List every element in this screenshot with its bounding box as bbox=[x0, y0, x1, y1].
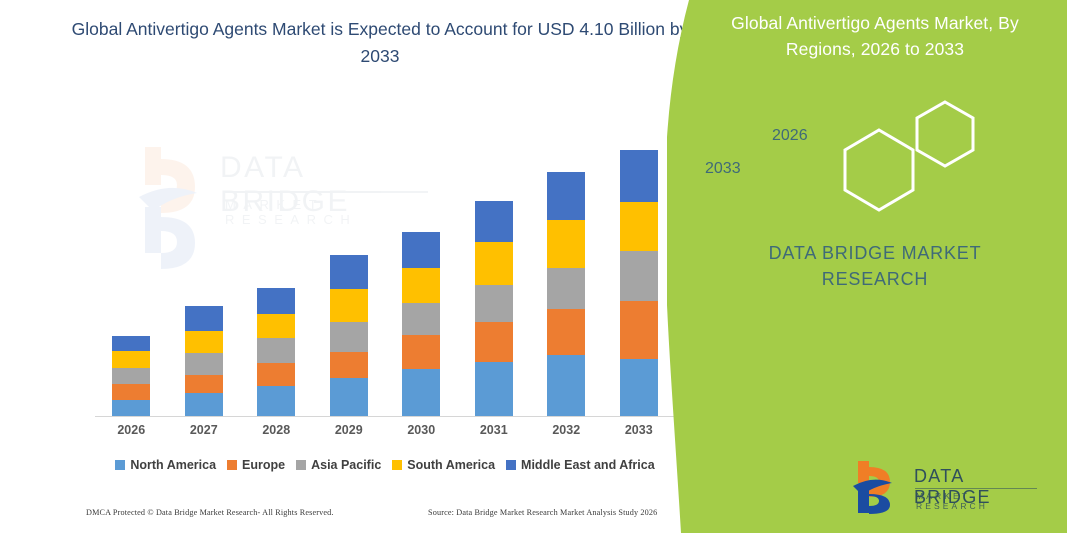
bar-segment[interactable] bbox=[330, 378, 368, 417]
footer-copyright: DMCA Protected © Data Bridge Market Rese… bbox=[86, 508, 334, 517]
bar-segment[interactable] bbox=[257, 386, 295, 417]
bar-segment[interactable] bbox=[620, 359, 658, 417]
x-label-2026: 2026 bbox=[95, 423, 168, 437]
bar-group-2033[interactable] bbox=[603, 150, 676, 417]
stacked-bar[interactable] bbox=[475, 201, 513, 417]
bar-segment[interactable] bbox=[257, 363, 295, 386]
bar-chart-plot-area bbox=[95, 140, 675, 417]
bar-segment[interactable] bbox=[547, 268, 585, 308]
bar-segment[interactable] bbox=[475, 242, 513, 285]
panel-title: Global Antivertigo Agents Market, By Reg… bbox=[715, 10, 1035, 63]
bar-segment[interactable] bbox=[475, 285, 513, 323]
bar-segment[interactable] bbox=[620, 202, 658, 251]
stacked-bar[interactable] bbox=[257, 288, 295, 417]
bar-group-2028[interactable] bbox=[240, 288, 313, 417]
hex-label-2026: 2026 bbox=[772, 127, 808, 145]
logo-divider bbox=[915, 488, 1037, 489]
bar-group-2030[interactable] bbox=[385, 232, 458, 417]
x-label-2031: 2031 bbox=[458, 423, 531, 437]
bar-segment[interactable] bbox=[620, 150, 658, 202]
legend-label: North America bbox=[130, 458, 216, 472]
bar-segment[interactable] bbox=[330, 322, 368, 352]
bar-segment[interactable] bbox=[475, 322, 513, 362]
legend-item[interactable]: Europe bbox=[227, 458, 285, 472]
hexagon-shapes-icon bbox=[797, 92, 997, 222]
stacked-bar[interactable] bbox=[547, 172, 585, 417]
dbmr-logo: DATA BRIDGE MARKET RESEARCH bbox=[852, 460, 1042, 518]
legend-label: South America bbox=[407, 458, 495, 472]
bar-segment[interactable] bbox=[112, 400, 150, 417]
bar-segment[interactable] bbox=[112, 368, 150, 384]
bar-segment[interactable] bbox=[257, 314, 295, 339]
bar-group-2032[interactable] bbox=[530, 172, 603, 417]
stacked-bar[interactable] bbox=[330, 255, 368, 417]
stacked-bar[interactable] bbox=[112, 336, 150, 417]
legend-label: Asia Pacific bbox=[311, 458, 381, 472]
stacked-bar[interactable] bbox=[402, 232, 440, 417]
bar-segment[interactable] bbox=[112, 336, 150, 352]
legend-item[interactable]: Asia Pacific bbox=[296, 458, 381, 472]
bar-segment[interactable] bbox=[547, 172, 585, 220]
bar-segment[interactable] bbox=[185, 393, 223, 417]
legend-label: Europe bbox=[242, 458, 285, 472]
logo-subtext: MARKET RESEARCH bbox=[916, 491, 1042, 511]
legend-label: Middle East and Africa bbox=[521, 458, 655, 472]
bar-segment[interactable] bbox=[475, 201, 513, 242]
chart-title: Global Antivertigo Agents Market is Expe… bbox=[70, 16, 690, 70]
legend-swatch-icon bbox=[115, 460, 125, 470]
legend-item[interactable]: South America bbox=[392, 458, 495, 472]
legend-item[interactable]: North America bbox=[115, 458, 216, 472]
bar-segment[interactable] bbox=[330, 255, 368, 289]
hex-label-2033: 2033 bbox=[705, 160, 741, 178]
legend-swatch-icon bbox=[227, 460, 237, 470]
x-label-2029: 2029 bbox=[313, 423, 386, 437]
bar-segment[interactable] bbox=[330, 352, 368, 378]
x-label-2027: 2027 bbox=[168, 423, 241, 437]
bar-segment[interactable] bbox=[547, 355, 585, 417]
panel-brand-line-1: DATA BRIDGE MARKET bbox=[769, 243, 982, 263]
legend-item[interactable]: Middle East and Africa bbox=[506, 458, 655, 472]
x-label-2033: 2033 bbox=[603, 423, 676, 437]
x-axis-line bbox=[95, 416, 675, 417]
right-green-panel: Global Antivertigo Agents Market, By Reg… bbox=[667, 0, 1067, 533]
bar-segment[interactable] bbox=[112, 384, 150, 400]
chart-legend: North AmericaEuropeAsia PacificSouth Ame… bbox=[95, 455, 675, 475]
bar-segment[interactable] bbox=[112, 351, 150, 367]
dbmr-logo-mark-icon bbox=[852, 460, 910, 514]
bar-segment[interactable] bbox=[547, 220, 585, 268]
bar-segment[interactable] bbox=[257, 338, 295, 363]
bar-group-2029[interactable] bbox=[313, 255, 386, 417]
bar-segment[interactable] bbox=[620, 301, 658, 358]
bar-segment[interactable] bbox=[185, 331, 223, 354]
stacked-bar[interactable] bbox=[185, 306, 223, 417]
panel-brand-line-2: RESEARCH bbox=[822, 269, 928, 289]
legend-swatch-icon bbox=[506, 460, 516, 470]
x-label-2032: 2032 bbox=[530, 423, 603, 437]
bar-segment[interactable] bbox=[402, 369, 440, 417]
bar-segment[interactable] bbox=[257, 288, 295, 314]
bar-segment[interactable] bbox=[402, 268, 440, 303]
infographic-canvas: DATA BRIDGE MARKET RESEARCH Global Antiv… bbox=[0, 0, 1067, 533]
bar-segment[interactable] bbox=[620, 251, 658, 301]
bar-segment[interactable] bbox=[402, 303, 440, 335]
bar-segment[interactable] bbox=[185, 306, 223, 331]
bar-segment[interactable] bbox=[475, 362, 513, 417]
bar-group-2026[interactable] bbox=[95, 336, 168, 417]
x-label-2028: 2028 bbox=[240, 423, 313, 437]
bar-group-2031[interactable] bbox=[458, 201, 531, 417]
footer-source: Source: Data Bridge Market Research Mark… bbox=[428, 508, 657, 517]
bar-segment[interactable] bbox=[402, 335, 440, 369]
stacked-bar[interactable] bbox=[620, 150, 658, 417]
hexagon-badges bbox=[797, 92, 997, 212]
legend-swatch-icon bbox=[392, 460, 402, 470]
panel-brand-text: DATA BRIDGE MARKET RESEARCH bbox=[715, 240, 1035, 292]
bar-group-2027[interactable] bbox=[168, 306, 241, 417]
bar-segment[interactable] bbox=[330, 289, 368, 322]
bar-segment[interactable] bbox=[547, 309, 585, 356]
x-axis-tick-labels: 20262027202820292030203120322033 bbox=[95, 423, 675, 443]
x-label-2030: 2030 bbox=[385, 423, 458, 437]
legend-swatch-icon bbox=[296, 460, 306, 470]
bar-segment[interactable] bbox=[402, 232, 440, 268]
bar-segment[interactable] bbox=[185, 375, 223, 393]
bar-segment[interactable] bbox=[185, 353, 223, 374]
